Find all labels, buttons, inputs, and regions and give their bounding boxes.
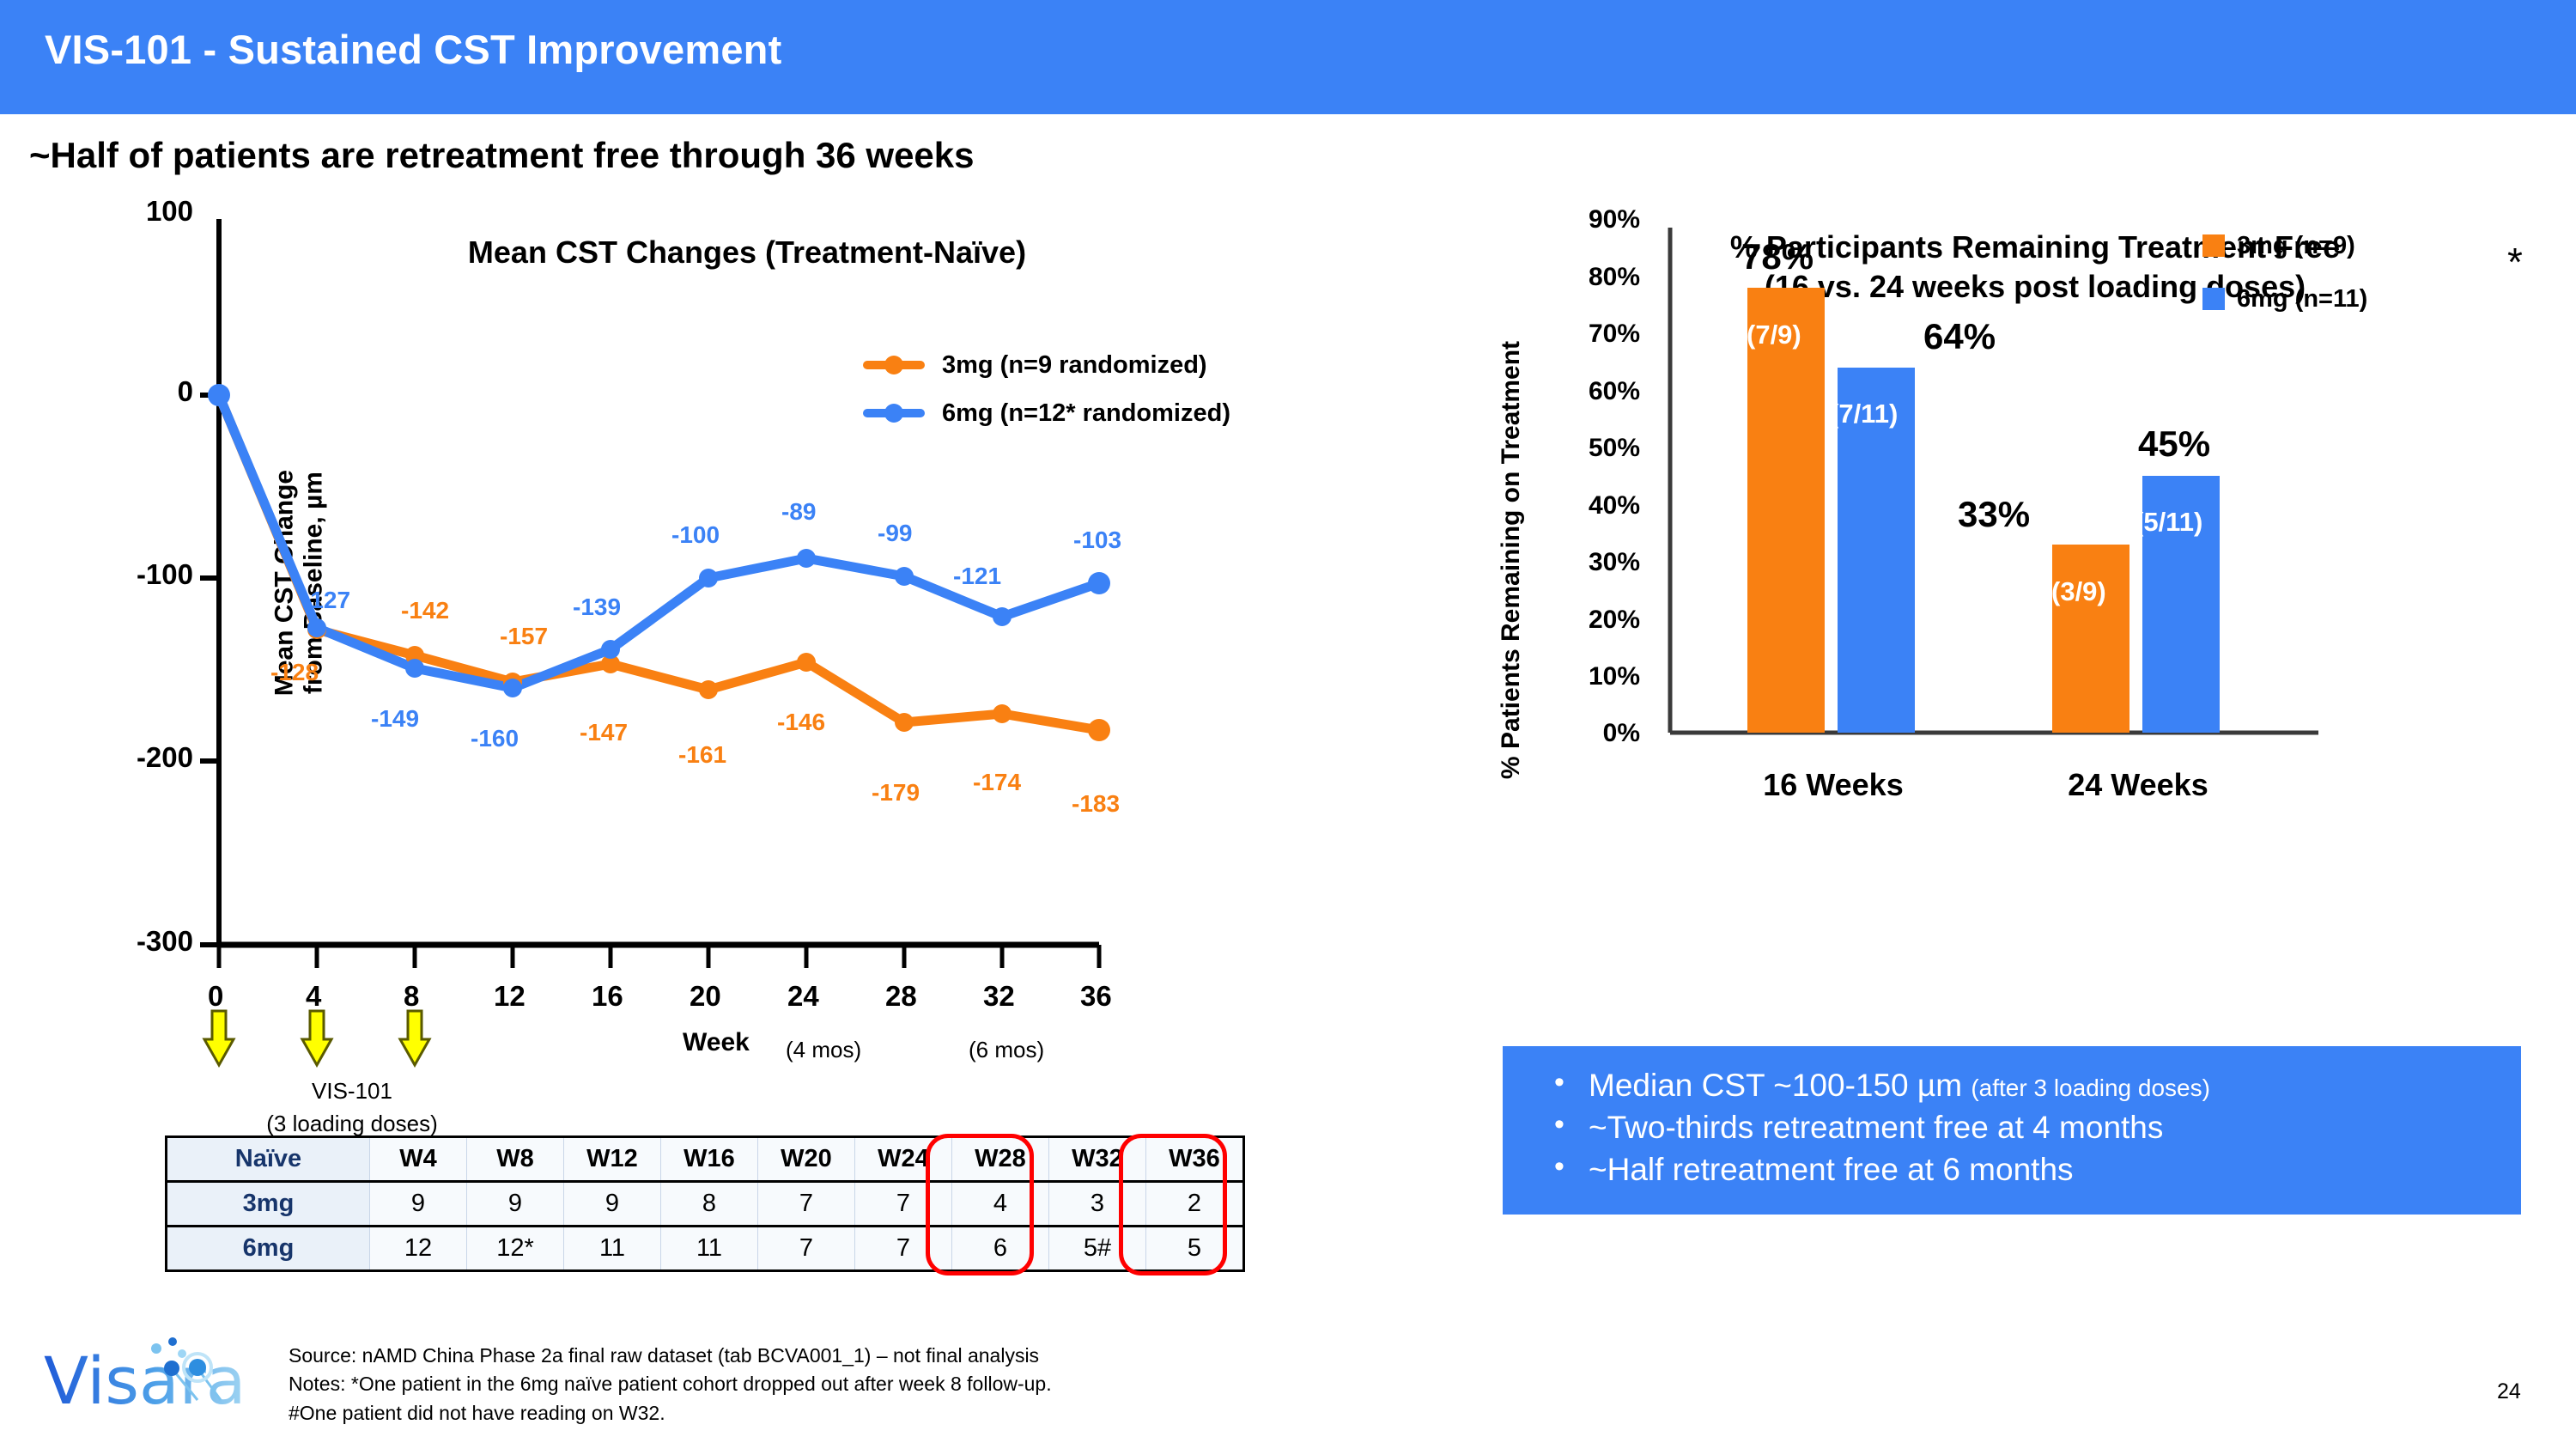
bar-fraction-3mg-24weeks: (3/9) <box>2051 576 2106 607</box>
retreatment-free-table: Naïve W4 W8 W12 W16 W20 W24 W28 W32 W36 … <box>165 1135 1245 1272</box>
table-header-w20: W20 <box>758 1137 855 1182</box>
footnotes: Source: nAMD China Phase 2a final raw da… <box>289 1342 1052 1428</box>
bar-y-tick-20: 20% <box>1546 606 1640 635</box>
bar-3mg-24weeks <box>2052 545 2129 733</box>
data-label-6mg-w12: -160 <box>471 725 519 752</box>
visara-logo: Visara <box>21 1330 279 1424</box>
bar-legend-item-6mg: 6mg (n=11) <box>2202 272 2367 326</box>
bar-legend-label-3mg: 3mg (n=9) <box>2237 232 2355 260</box>
x-tick-20: 20 <box>690 980 721 1013</box>
bar-chart-plot-area <box>1451 228 2567 1044</box>
table-header-naive: Naïve <box>167 1137 370 1182</box>
cell-3mg-w4: 9 <box>370 1182 467 1227</box>
table-header-w16: W16 <box>661 1137 758 1182</box>
bar-y-tick-40: 40% <box>1546 491 1640 521</box>
data-label-3mg-w28: -179 <box>872 779 920 807</box>
table-header-w12: W12 <box>564 1137 661 1182</box>
table-row-label-6mg: 6mg <box>167 1227 370 1271</box>
callout-bullet-3: ~Half retreatment free at 6 months <box>1551 1149 2521 1191</box>
svg-text:Visara: Visara <box>44 1342 246 1419</box>
x-tick-28: 28 <box>885 980 917 1013</box>
logo-molecule-icon: Visara <box>21 1330 279 1424</box>
data-label-3mg-w24: -146 <box>777 709 825 736</box>
highlight-box-w24 <box>926 1134 1034 1275</box>
bar-y-tick-0: 0% <box>1546 719 1640 748</box>
cell-3mg-w16: 8 <box>661 1182 758 1227</box>
bar-y-tick-90: 90% <box>1546 205 1640 234</box>
bar-3mg-16weeks <box>1747 288 1825 733</box>
cell-3mg-w12: 9 <box>564 1182 661 1227</box>
callout-bullet-1: Median CST ~100-150 µm (after 3 loading … <box>1551 1065 2521 1107</box>
bar-legend-asterisk: * <box>2507 239 2523 285</box>
bar-y-tick-80: 80% <box>1546 263 1640 292</box>
x-axis-note-4mos: (4 mos) <box>786 1037 861 1063</box>
cell-6mg-w20: 7 <box>758 1227 855 1271</box>
table-row: 6mg 12 12* 11 11 7 7 6 5# 5 <box>167 1227 1244 1271</box>
data-label-3mg-w4: -128 <box>270 659 319 686</box>
y-tick-neg200: -200 <box>94 741 193 774</box>
table-header-w4: W4 <box>370 1137 467 1182</box>
footnote-notes: Notes: *One patient in the 6mg naïve pat… <box>289 1370 1052 1398</box>
cell-6mg-w4: 12 <box>370 1227 467 1271</box>
data-label-3mg-w36: -183 <box>1072 790 1120 818</box>
callout-bullet-2: ~Two-thirds retreatment free at 4 months <box>1551 1107 2521 1149</box>
x-tick-24: 24 <box>787 980 819 1013</box>
data-label-3mg-w16: -147 <box>580 719 628 746</box>
bar-fraction-6mg-24weeks: (5/11) <box>2135 507 2202 538</box>
bar-y-tick-30: 30% <box>1546 548 1640 577</box>
data-label-6mg-w32: -121 <box>953 563 1001 590</box>
bar-y-tick-60: 60% <box>1546 377 1640 406</box>
line-chart: Mean CST Changes (Treatment-Naïve) Mean … <box>146 219 1348 1121</box>
highlight-box-w32 <box>1119 1134 1227 1275</box>
x-tick-36: 36 <box>1080 980 1112 1013</box>
x-axis-label-week: Week <box>683 1028 750 1057</box>
table-header-row: Naïve W4 W8 W12 W16 W20 W24 W28 W32 W36 <box>167 1137 1244 1182</box>
cell-3mg-w20: 7 <box>758 1182 855 1227</box>
data-label-3mg-w32: -174 <box>973 769 1021 796</box>
data-label-6mg-w16: -139 <box>573 594 621 621</box>
bar-y-tick-10: 10% <box>1546 662 1640 691</box>
data-label-6mg-w36: -103 <box>1073 527 1121 554</box>
line-chart-plot-area <box>146 219 1348 1121</box>
bar-legend-label-6mg: 6mg (n=11) <box>2237 285 2367 314</box>
data-label-6mg-w24: -89 <box>781 498 816 526</box>
y-tick-0: 0 <box>107 375 193 408</box>
y-tick-100: 100 <box>107 195 193 228</box>
bar-category-16weeks: 16 Weeks <box>1722 767 1945 803</box>
cell-6mg-w12: 11 <box>564 1227 661 1271</box>
x-tick-8: 8 <box>404 980 419 1013</box>
bar-chart-legend: 3mg (n=9) 6mg (n=11) <box>2202 219 2367 326</box>
data-label-3mg-w8: -142 <box>401 597 449 624</box>
x-tick-16: 16 <box>592 980 623 1013</box>
bar-legend-swatch-6mg <box>2202 288 2225 310</box>
cell-6mg-w16: 11 <box>661 1227 758 1271</box>
dose-note-line1: VIS-101 <box>240 1078 464 1105</box>
y-tick-neg100: -100 <box>94 558 193 591</box>
bar-value-3mg-16weeks: 78% <box>1741 236 1814 277</box>
bar-chart: % Participants Remaining Treatment Free … <box>1451 228 2567 1044</box>
data-label-3mg-w12: -157 <box>500 623 548 650</box>
slide-header-bar: VIS-101 - Sustained CST Improvement <box>0 0 2576 114</box>
bar-fraction-3mg-16weeks: (7/9) <box>1747 320 1801 350</box>
page-number: 24 <box>2497 1379 2521 1404</box>
bar-value-6mg-24weeks: 45% <box>2138 423 2210 465</box>
bar-y-tick-70: 70% <box>1546 320 1640 349</box>
table-row-label-3mg: 3mg <box>167 1182 370 1227</box>
x-tick-0: 0 <box>208 980 223 1013</box>
data-label-6mg-w20: -100 <box>671 521 720 549</box>
bar-value-6mg-16weeks: 64% <box>1923 316 1996 357</box>
footnote-source: Source: nAMD China Phase 2a final raw da… <box>289 1342 1052 1370</box>
bar-legend-swatch-3mg <box>2202 234 2225 257</box>
data-label-6mg-w4: -127 <box>302 587 350 614</box>
bar-legend-item-3mg: 3mg (n=9) <box>2202 219 2367 272</box>
footnote-hash: #One patient did not have reading on W32… <box>289 1399 1052 1428</box>
x-tick-12: 12 <box>494 980 526 1013</box>
bar-y-tick-50: 50% <box>1546 434 1640 463</box>
data-label-6mg-w8: -149 <box>371 705 419 733</box>
data-label-6mg-w28: -99 <box>878 520 912 547</box>
slide-title: VIS-101 - Sustained CST Improvement <box>45 26 781 73</box>
x-tick-4: 4 <box>306 980 321 1013</box>
bar-fraction-6mg-16weeks: (7/11) <box>1830 399 1898 429</box>
x-tick-32: 32 <box>983 980 1015 1013</box>
table-row: 3mg 9 9 9 8 7 7 4 3 2 <box>167 1182 1244 1227</box>
dose-note-line2: (3 loading doses) <box>197 1111 507 1137</box>
x-axis-note-6mos: (6 mos) <box>969 1037 1044 1063</box>
subheadline: ~Half of patients are retreatment free t… <box>29 135 975 176</box>
bar-category-24weeks: 24 Weeks <box>2026 767 2250 803</box>
y-tick-neg300: -300 <box>94 925 193 958</box>
cell-3mg-w8: 9 <box>467 1182 564 1227</box>
data-label-3mg-w20: -161 <box>678 741 726 769</box>
table-header-w8: W8 <box>467 1137 564 1182</box>
cell-6mg-w8: 12* <box>467 1227 564 1271</box>
bar-value-3mg-24weeks: 33% <box>1958 494 2030 535</box>
summary-callout-box: Median CST ~100-150 µm (after 3 loading … <box>1503 1046 2521 1215</box>
